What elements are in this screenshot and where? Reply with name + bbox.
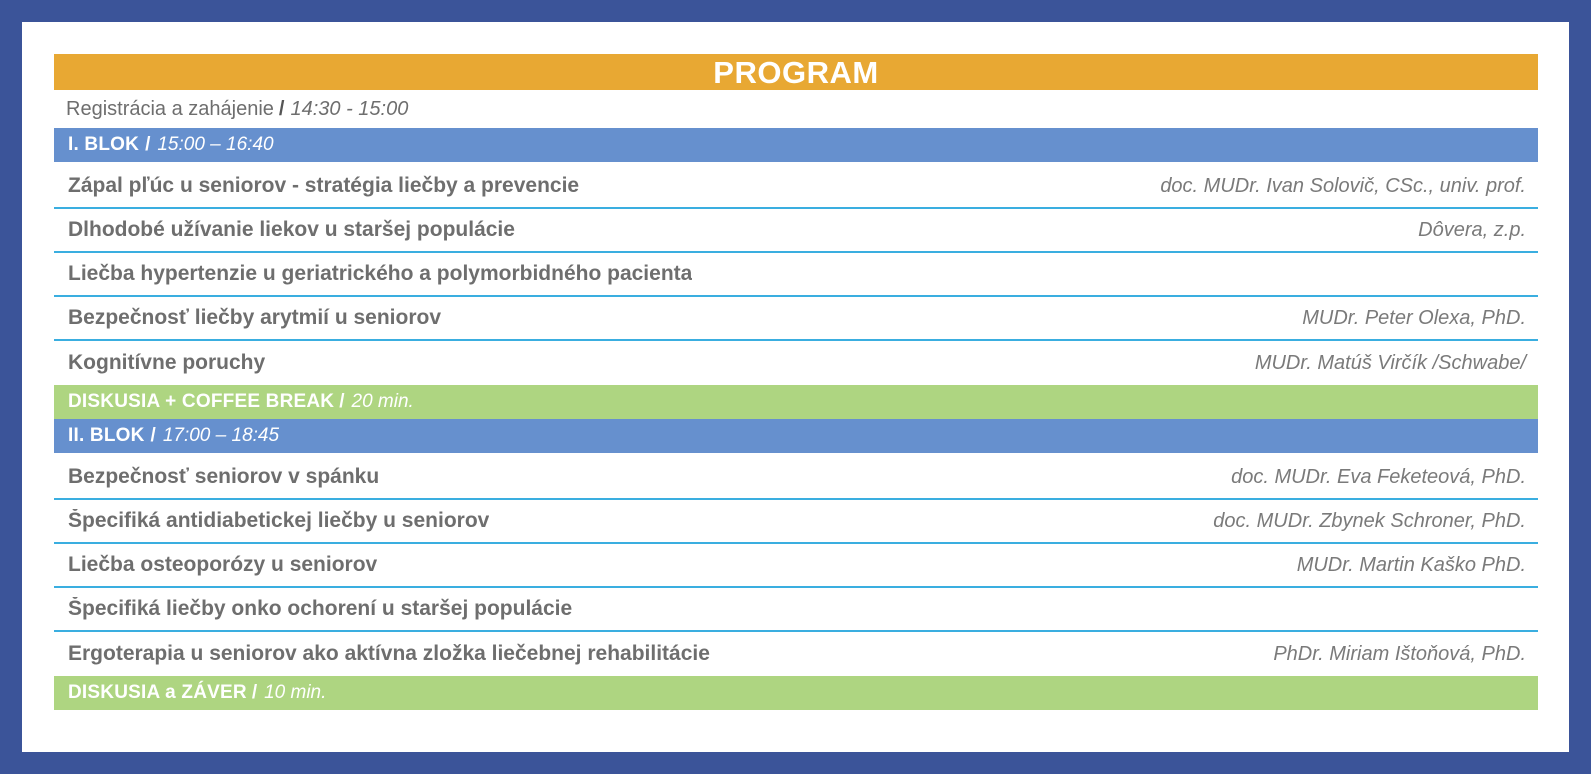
session-title: Kognitívne poruchy — [68, 351, 265, 375]
session-speaker: PhDr. Miriam Ištoňová, PhD. — [1249, 643, 1526, 666]
page-title: PROGRAM — [713, 57, 878, 88]
block-header-1: I. BLOK / 15:00 – 16:40 — [54, 128, 1538, 162]
session-speaker: doc. MUDr. Zbynek Schroner, PhD. — [1189, 510, 1526, 533]
session-title: Liečba hypertenzie u geriatrického a pol… — [68, 262, 692, 286]
registration-separator: / — [279, 98, 285, 121]
program-poster: PROGRAM Registrácia a zahájenie / 14:30 … — [0, 0, 1591, 774]
registration-time: 14:30 - 15:00 — [290, 98, 408, 121]
program-card: PROGRAM Registrácia a zahájenie / 14:30 … — [22, 22, 1569, 752]
table-row: Kognitívne poruchy MUDr. Matúš Virčík /S… — [54, 341, 1538, 385]
session-title: Špecifiká antidiabetickej liečby u senio… — [68, 509, 489, 533]
break-time: 20 min. — [352, 391, 414, 413]
table-row: Zápal pľúc u seniorov - stratégia liečby… — [54, 165, 1538, 209]
break-separator: / — [252, 682, 257, 704]
session-title: Špecifiká liečby onko ochorení u staršej… — [68, 597, 572, 621]
table-row: Dlhodobé užívanie liekov u staršej popul… — [54, 209, 1538, 253]
block-header-2: II. BLOK / 17:00 – 18:45 — [54, 419, 1538, 453]
block-2-separator: / — [151, 425, 156, 447]
break-time: 10 min. — [264, 682, 326, 704]
session-title: Bezpečnosť liečby arytmií u seniorov — [68, 306, 441, 330]
table-row: Špecifiká liečby onko ochorení u staršej… — [54, 588, 1538, 632]
session-speaker: MUDr. Peter Olexa, PhD. — [1278, 307, 1526, 330]
block-2-time: 17:00 – 18:45 — [163, 425, 279, 447]
block-1-time: 15:00 – 16:40 — [157, 134, 273, 156]
registration-label: Registrácia a zahájenie — [66, 98, 274, 121]
table-row: Ergoterapia u seniorov ako aktívna zložk… — [54, 632, 1538, 676]
session-title: Liečba osteoporózy u seniorov — [68, 553, 377, 577]
break-row-coffee: DISKUSIA + COFFEE BREAK / 20 min. — [54, 385, 1538, 419]
block-1-label: I. BLOK — [68, 134, 139, 156]
session-title: Zápal pľúc u seniorov - stratégia liečby… — [68, 174, 579, 198]
block-1-separator: / — [145, 134, 150, 156]
session-speaker: Dôvera, z.p. — [1394, 219, 1526, 242]
table-row: Liečba hypertenzie u geriatrického a pol… — [54, 253, 1538, 297]
table-row: Špecifiká antidiabetickej liečby u senio… — [54, 500, 1538, 544]
table-row: Bezpečnosť liečby arytmií u seniorov MUD… — [54, 297, 1538, 341]
program-table: PROGRAM Registrácia a zahájenie / 14:30 … — [54, 54, 1538, 710]
break-label: DISKUSIA + COFFEE BREAK — [68, 391, 334, 413]
table-row: Bezpečnosť seniorov v spánku doc. MUDr. … — [54, 456, 1538, 500]
break-label: DISKUSIA a ZÁVER — [68, 682, 247, 704]
session-speaker: MUDr. Martin Kaško PhD. — [1273, 554, 1526, 577]
session-title: Bezpečnosť seniorov v spánku — [68, 465, 379, 489]
session-speaker: doc. MUDr. Ivan Solovič, CSc., univ. pro… — [1136, 175, 1526, 198]
break-separator: / — [339, 391, 344, 413]
block-2-label: II. BLOK — [68, 425, 145, 447]
session-speaker: MUDr. Matúš Virčík /Schwabe/ — [1231, 352, 1526, 375]
registration-row: Registrácia a zahájenie / 14:30 - 15:00 — [54, 90, 1538, 128]
table-row: Liečba osteoporózy u seniorov MUDr. Mart… — [54, 544, 1538, 588]
session-title: Dlhodobé užívanie liekov u staršej popul… — [68, 218, 515, 242]
program-title-bar: PROGRAM — [54, 54, 1538, 90]
session-speaker: doc. MUDr. Eva Feketeová, PhD. — [1207, 466, 1526, 489]
break-row-closing: DISKUSIA a ZÁVER / 10 min. — [54, 676, 1538, 710]
session-title: Ergoterapia u seniorov ako aktívna zložk… — [68, 642, 710, 666]
